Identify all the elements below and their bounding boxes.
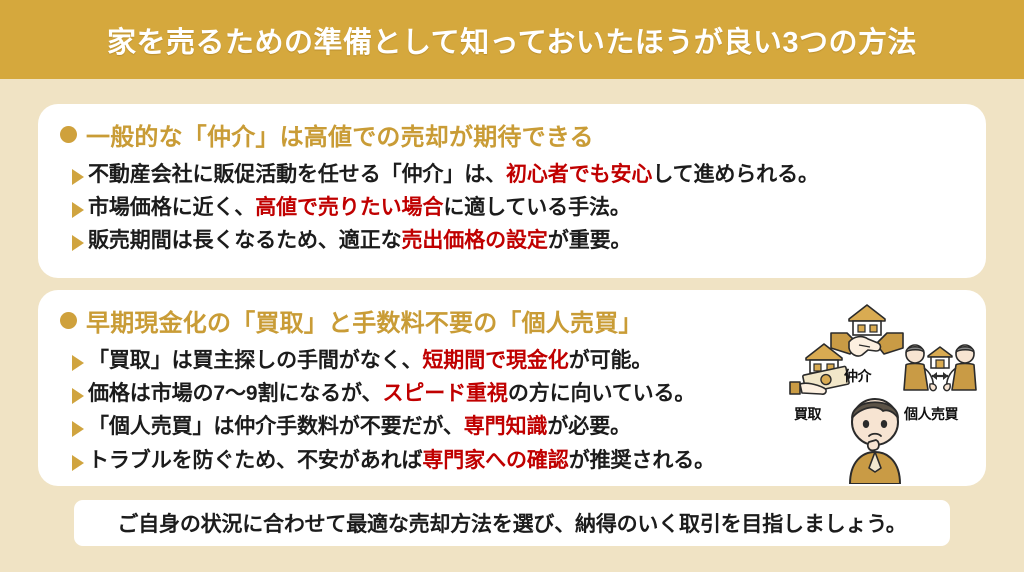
bullet-text-post: が重要。 <box>548 224 632 257</box>
triangle-bullet-icon <box>72 169 84 185</box>
bullet-text-pre: 価格は市場の7〜9割になるが、 <box>88 377 382 410</box>
thinking-person-icon <box>842 392 908 484</box>
bullet-text-post: の方に向いている。 <box>508 377 695 410</box>
illustration-label-chukai: 仲介 <box>844 366 871 386</box>
card-1-heading: 一般的な「仲介」は高値での売却が期待できる <box>38 104 986 154</box>
sales-methods-illustration: 仲介 買取 個人売買 <box>786 300 986 486</box>
header-bar: 家を売るための準備として知っておいたほうが良い3つの方法 <box>0 0 1024 79</box>
triangle-bullet-icon <box>72 355 84 371</box>
bullet-text-pre: 販売期間は長くなるため、適正な <box>88 224 402 257</box>
bullet-text-post: して進められる。 <box>652 158 819 191</box>
list-item: 市場価格に近く、高値で売りたい場合に適している手法。 <box>72 191 986 224</box>
two-people-exchange-icon <box>902 342 978 404</box>
triangle-bullet-icon <box>72 202 84 218</box>
bullet-text-highlight: 短期間で現金化 <box>422 344 568 377</box>
card-2-heading-text: 早期現金化の「買取」と手数料不要の「個人売買」 <box>86 303 643 338</box>
bullet-text-highlight: 専門家への確認 <box>422 444 568 477</box>
bullet-text-pre: 不動産会社に販促活動を任せる「仲介」は、 <box>88 158 506 191</box>
bullet-text-pre: 市場価格に近く、 <box>88 191 255 224</box>
footer-card: ご自身の状況に合わせて最適な売却方法を選び、納得のいく取引を目指しましょう。 <box>74 500 950 546</box>
footer-text: ご自身の状況に合わせて最適な売却方法を選び、納得のいく取引を目指しましょう。 <box>117 508 906 538</box>
card-1-bullet-list: 不動産会社に販促活動を任せる「仲介」は、初心者でも安心して進められる。 市場価格… <box>38 154 986 258</box>
bullet-text-post: が可能。 <box>569 344 653 377</box>
bullet-text-pre: 「買取」は買主探しの手間がなく、 <box>88 344 422 377</box>
triangle-bullet-icon <box>72 388 84 404</box>
content-card-1: 一般的な「仲介」は高値での売却が期待できる 不動産会社に販促活動を任せる「仲介」… <box>38 104 986 278</box>
bullet-text-pre: 「個人売買」は仲介手数料が不要だが、 <box>88 410 464 443</box>
bullet-text-post: に適している手法。 <box>443 191 630 224</box>
card-1-heading-text: 一般的な「仲介」は高値での売却が期待できる <box>86 117 594 152</box>
bullet-text-highlight: スピード重視 <box>382 377 507 410</box>
bullet-text-post: が必要。 <box>547 410 631 443</box>
bullet-text-pre: トラブルを防ぐため、不安があれば <box>88 444 422 477</box>
bullet-text-highlight: 高値で売りたい場合 <box>255 191 443 224</box>
bullet-dot-icon <box>60 126 77 143</box>
triangle-bullet-icon <box>72 421 84 437</box>
bullet-text-post: が推奨される。 <box>569 444 715 477</box>
list-item: 販売期間は長くなるため、適正な売出価格の設定が重要。 <box>72 224 986 257</box>
page-title: 家を売るための準備として知っておいたほうが良い3つの方法 <box>107 19 917 61</box>
bullet-text-highlight: 専門知識 <box>464 410 548 443</box>
list-item: 不動産会社に販促活動を任せる「仲介」は、初心者でも安心して進められる。 <box>72 158 986 191</box>
bullet-text-highlight: 初心者でも安心 <box>506 158 652 191</box>
illustration-label-kojin: 個人売買 <box>904 404 958 424</box>
triangle-bullet-icon <box>72 455 84 471</box>
bullet-dot-icon <box>60 312 77 329</box>
bullet-text-highlight: 売出価格の設定 <box>402 224 548 257</box>
illustration-label-kaitori: 買取 <box>794 404 821 424</box>
triangle-bullet-icon <box>72 235 84 251</box>
